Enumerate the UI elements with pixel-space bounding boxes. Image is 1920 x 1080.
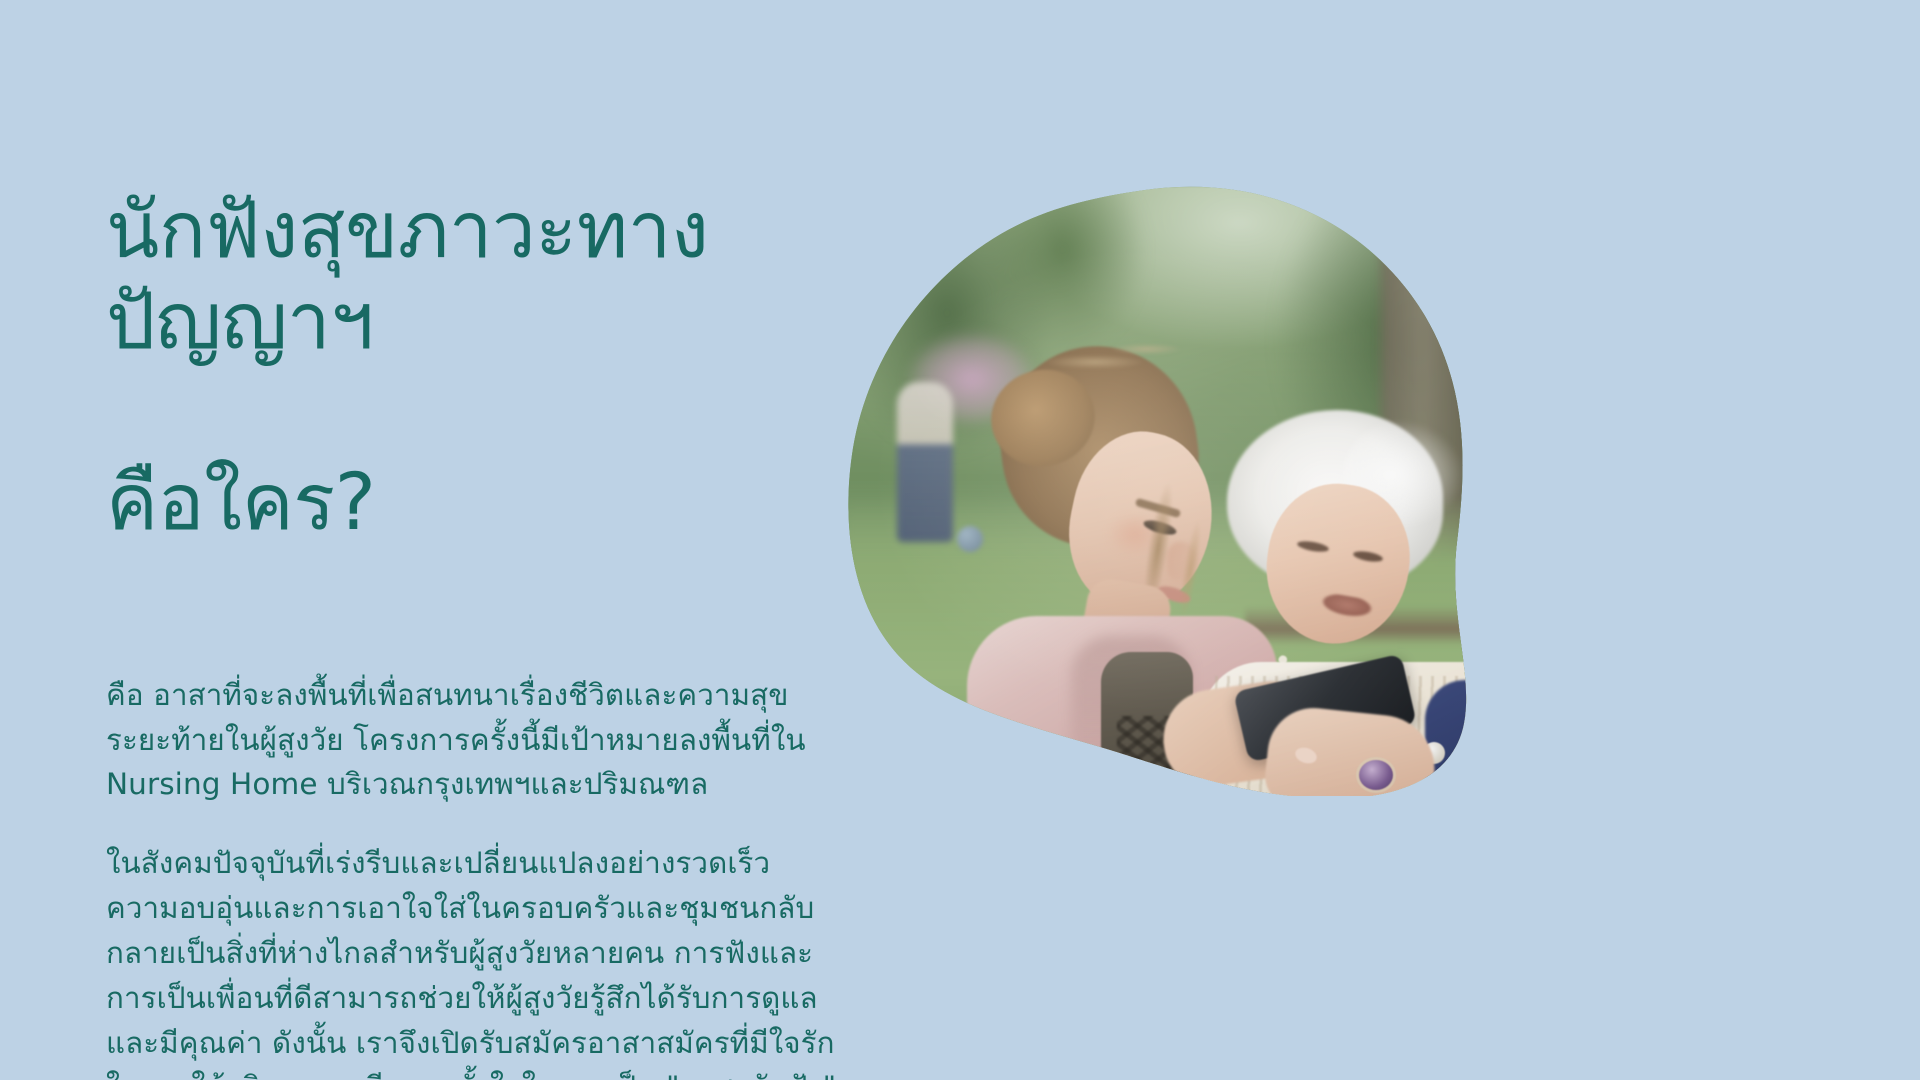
young-woman-flyaway-hair	[1027, 330, 1197, 410]
hands-group	[1145, 656, 1475, 796]
page-title-line-2: คือใคร?	[106, 458, 866, 548]
body-copy: คือ อาสาที่จะลงพื้นที่เพื่อสนทนาเรื่องชี…	[106, 673, 866, 1080]
photo-blob-mask	[845, 186, 1525, 796]
text-column: นักฟังสุขภาวะทางปัญญาฯ คือใคร? คือ อาสาท…	[106, 96, 866, 1080]
paragraph-rationale: ในสังคมปัจจุบันที่เร่งรีบและเปลี่ยนแปลงอ…	[106, 841, 846, 1080]
photo-illustration	[845, 186, 1525, 796]
page-title: นักฟังสุขภาวะทางปัญญาฯ คือใคร?	[106, 96, 866, 639]
page-title-line-1: นักฟังสุขภาวะทางปัญญาฯ	[106, 186, 866, 367]
slide-root: นักฟังสุขภาวะทางปัญญาฯ คือใคร? คือ อาสาท…	[0, 0, 1920, 1080]
gemstone-ring	[1359, 760, 1393, 790]
photo-blob	[845, 186, 1525, 796]
paragraph-intro: คือ อาสาที่จะลงพื้นที่เพื่อสนทนาเรื่องชี…	[106, 673, 846, 807]
background-person	[897, 382, 953, 542]
